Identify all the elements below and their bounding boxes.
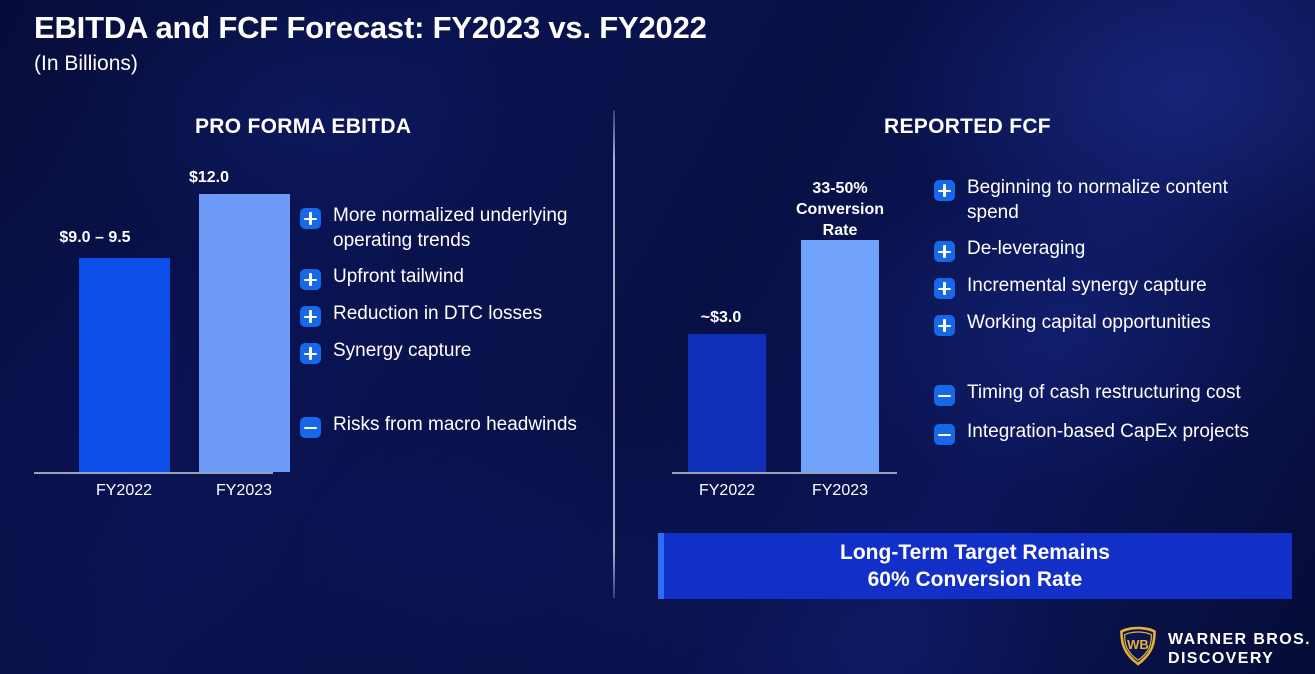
bullet-item[interactable]: Synergy capture bbox=[300, 338, 600, 364]
plus-badge-icon bbox=[934, 241, 955, 262]
bullet-label: Synergy capture bbox=[333, 338, 471, 363]
slide-root: EBITDA and FCF Forecast: FY2023 vs. FY20… bbox=[0, 0, 1315, 674]
wb-shield-icon: WB bbox=[1118, 626, 1158, 671]
bullet-item[interactable]: Working capital opportunities bbox=[934, 310, 1284, 336]
brand-logo-text: WARNER BROS. DISCOVERY bbox=[1168, 630, 1311, 668]
bar-fy2022 bbox=[688, 334, 766, 472]
reported-fcf-chart: ~$3.0 33-50% Conversion Rate FY2022 FY20… bbox=[672, 150, 922, 480]
left-bullet-list: More normalized underlying operating tre… bbox=[300, 203, 600, 447]
bar-fy2023 bbox=[199, 194, 290, 472]
banner-text: Long-Term Target Remains 60% Conversion … bbox=[840, 539, 1110, 593]
plus-badge-icon bbox=[300, 269, 321, 290]
slide-header: EBITDA and FCF Forecast: FY2023 vs. FY20… bbox=[34, 8, 707, 78]
bar-column-fy2022 bbox=[79, 150, 170, 472]
plus-badge-icon bbox=[300, 343, 321, 364]
right-bullet-list: Beginning to normalize content spend De-… bbox=[934, 175, 1284, 454]
minus-badge-icon bbox=[934, 424, 955, 445]
page-subtitle: (In Billions) bbox=[34, 50, 707, 78]
bullet-label: Working capital opportunities bbox=[967, 310, 1211, 335]
bullet-label: Risks from macro headwinds bbox=[333, 412, 577, 437]
bullet-item[interactable]: Reduction in DTC losses bbox=[300, 301, 600, 327]
panel-divider bbox=[613, 110, 615, 598]
plus-badge-icon bbox=[934, 315, 955, 336]
bar-fy2022 bbox=[79, 258, 170, 472]
bullet-item[interactable]: Integration-based CapEx projects bbox=[934, 419, 1284, 445]
bar-fy2023 bbox=[801, 240, 879, 472]
bullet-item[interactable]: Timing of cash restructuring cost bbox=[934, 380, 1284, 406]
bullet-item[interactable]: Beginning to normalize content spend bbox=[934, 175, 1284, 225]
minus-badge-icon bbox=[300, 417, 321, 438]
pro-forma-ebitda-chart: $9.0 – 9.5 $12.0 FY2022 FY2023 bbox=[34, 150, 309, 480]
bar-column-fy2022 bbox=[688, 150, 766, 472]
bullet-label: More normalized underlying operating tre… bbox=[333, 203, 600, 253]
axis-label-fy2022: FY2022 bbox=[64, 482, 184, 500]
bullet-item[interactable]: Risks from macro headwinds bbox=[300, 412, 600, 438]
bar-column-fy2023 bbox=[801, 150, 879, 472]
bullet-label: Beginning to normalize content spend bbox=[967, 175, 1284, 225]
bullet-label: De-leveraging bbox=[967, 236, 1085, 261]
bullet-label: Incremental synergy capture bbox=[967, 273, 1207, 298]
axis-label-fy2023: FY2023 bbox=[184, 482, 304, 500]
plus-badge-icon bbox=[300, 306, 321, 327]
right-panel-title: REPORTED FCF bbox=[884, 115, 1051, 139]
bar-column-fy2023 bbox=[199, 150, 290, 472]
bullet-item[interactable]: Upfront tailwind bbox=[300, 264, 600, 290]
minus-badge-icon bbox=[934, 385, 955, 406]
plus-badge-icon bbox=[934, 180, 955, 201]
bullet-label: Timing of cash restructuring cost bbox=[967, 380, 1241, 405]
axis-label-fy2023: FY2023 bbox=[780, 482, 900, 500]
x-axis-line bbox=[672, 472, 897, 474]
bullet-label: Upfront tailwind bbox=[333, 264, 464, 289]
banner-line-2: 60% Conversion Rate bbox=[868, 568, 1083, 591]
long-term-target-banner: Long-Term Target Remains 60% Conversion … bbox=[658, 533, 1292, 599]
bullet-item[interactable]: Incremental synergy capture bbox=[934, 273, 1284, 299]
left-panel-title: PRO FORMA EBITDA bbox=[195, 115, 411, 139]
bullet-item[interactable]: De-leveraging bbox=[934, 236, 1284, 262]
plus-badge-icon bbox=[934, 278, 955, 299]
x-axis-line bbox=[34, 472, 273, 474]
bullet-label: Reduction in DTC losses bbox=[333, 301, 542, 326]
bullet-item[interactable]: More normalized underlying operating tre… bbox=[300, 203, 600, 253]
page-title: EBITDA and FCF Forecast: FY2023 vs. FY20… bbox=[34, 8, 707, 48]
brand-line-2: DISCOVERY bbox=[1168, 650, 1274, 667]
banner-line-1: Long-Term Target Remains bbox=[840, 541, 1110, 564]
plus-badge-icon bbox=[300, 208, 321, 229]
svg-text:WB: WB bbox=[1127, 637, 1149, 652]
axis-label-fy2022: FY2022 bbox=[667, 482, 787, 500]
bullet-label: Integration-based CapEx projects bbox=[967, 419, 1249, 444]
brand-line-1: WARNER BROS. bbox=[1168, 631, 1311, 648]
brand-logo: WB WARNER BROS. DISCOVERY bbox=[1118, 626, 1311, 671]
